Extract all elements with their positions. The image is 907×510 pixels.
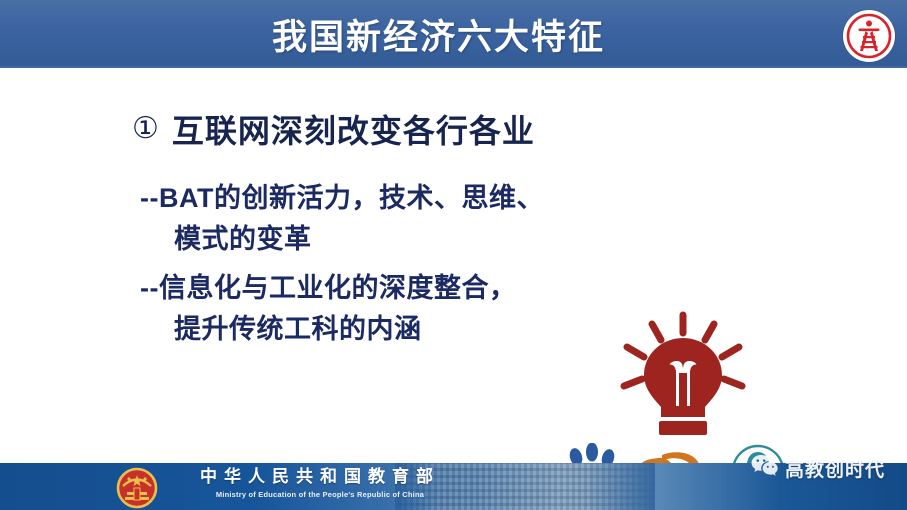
- bullet-list: --BAT的创新活力，技术、思维、 模式的变革 --信息化与工业化的深度整合， …: [140, 178, 660, 350]
- watermark-label: 高教创时代: [785, 455, 885, 482]
- slide-body: ① 互联网深刻改变各行各业 --BAT的创新活力，技术、思维、 模式的变革 --…: [0, 68, 907, 463]
- ministry-title-block: 中华人民共和国教育部 Ministry of Education of the …: [170, 466, 470, 499]
- presentation-slide: 我国新经济六大特征 ① 互联网深刻改变各行各业 --BAT的创新活力，技术、思维…: [0, 0, 907, 510]
- slide-title: 我国新经济六大特征: [0, 0, 907, 68]
- wechat-watermark: 高教创时代: [751, 454, 885, 482]
- slide-header: 我国新经济六大特征: [0, 0, 907, 68]
- institution-emblem-icon: [843, 10, 895, 62]
- lightbulb-idea-icon: [608, 311, 758, 441]
- ministry-title-en: Ministry of Education of the People's Re…: [216, 490, 424, 499]
- bullet-line-2: 模式的变革: [140, 219, 660, 260]
- wechat-icon: [751, 454, 778, 482]
- bullet-line-1: --BAT的创新活力，技术、思维、: [140, 178, 660, 219]
- bullet-line-1: --信息化与工业化的深度整合，: [140, 268, 660, 309]
- list-item: --BAT的创新活力，技术、思维、 模式的变革: [140, 178, 660, 260]
- ministry-title-cn: 中华人民共和国教育部: [200, 466, 440, 489]
- bullet-line-2: 提升传统工科的内涵: [140, 309, 660, 350]
- heading-number: ①: [132, 114, 160, 144]
- list-item: --信息化与工业化的深度整合， 提升传统工科的内涵: [140, 268, 660, 350]
- content-heading: ① 互联网深刻改变各行各业: [132, 106, 535, 152]
- heading-text: 互联网深刻改变各行各业: [172, 106, 535, 152]
- china-national-emblem-icon: [115, 466, 159, 510]
